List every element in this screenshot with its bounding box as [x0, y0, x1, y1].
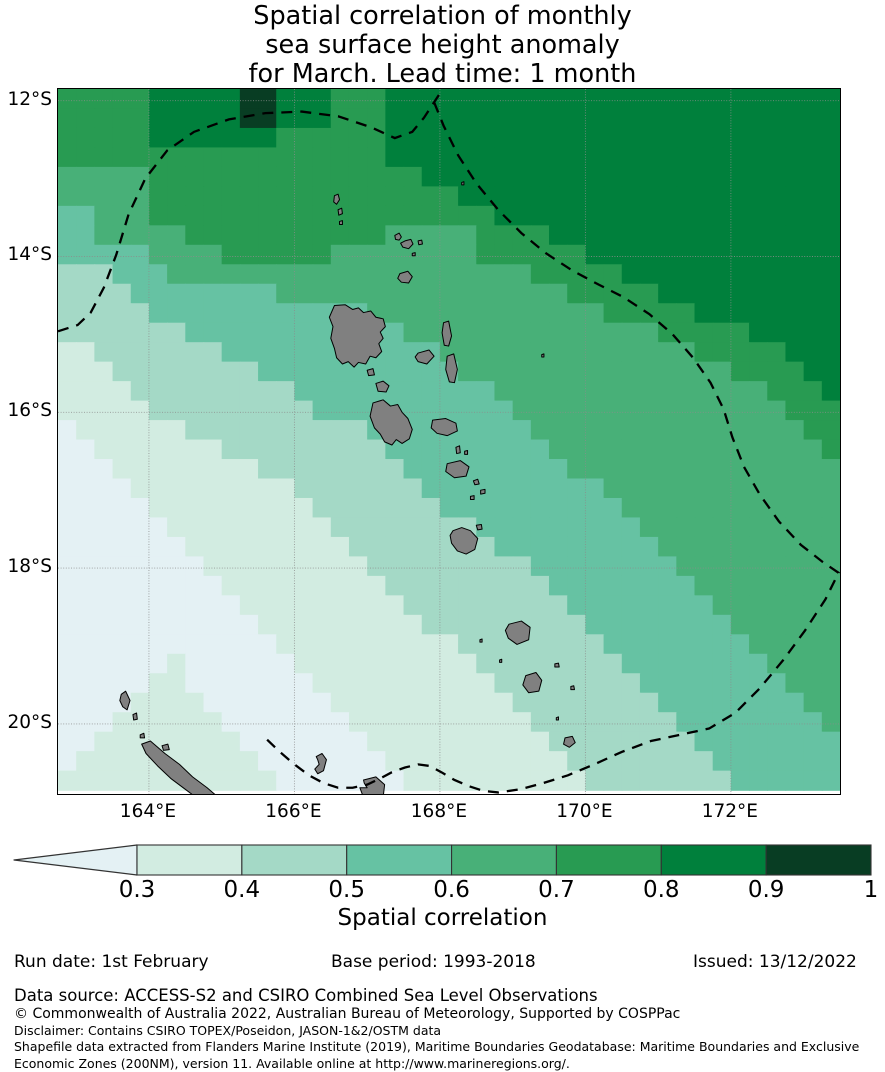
- base-period-label: Base period: 1993-2018: [331, 952, 536, 972]
- heatmap-cells: [58, 89, 840, 791]
- run-date-label: Run date: 1st February: [14, 952, 209, 972]
- x-axis-tick-166: 166°E: [233, 801, 353, 822]
- chart-title: Spatial correlation of monthly sea surfa…: [0, 0, 885, 89]
- colorbar-tick-0.9: 0.9: [706, 877, 826, 903]
- colorbar-tick-0.8: 0.8: [601, 877, 721, 903]
- disclaimer-text: Disclaimer: Contains CSIRO TOPEX/Poseido…: [14, 1023, 874, 1038]
- spatial-correlation-heatmap: [58, 89, 840, 794]
- chart-title-line-3: for March. Lead time: 1 month: [0, 60, 885, 89]
- y-axis-tick-20: 20°S: [7, 712, 52, 733]
- y-axis-tick-labels: 12°S14°S16°S18°S20°S: [0, 0, 52, 795]
- x-axis-tick-labels: 164°E166°E168°E170°E172°E: [0, 801, 885, 831]
- y-axis-tick-18: 18°S: [7, 556, 52, 577]
- colorbar-tick-1: 1: [811, 877, 885, 903]
- colorbar-title: Spatial correlation: [0, 905, 885, 931]
- y-axis-tick-14: 14°S: [7, 244, 52, 265]
- chart-title-line-2: sea surface height anomaly: [0, 31, 885, 60]
- x-axis-tick-170: 170°E: [524, 801, 644, 822]
- heatmap-canvas: [57, 88, 841, 795]
- colorbar-tick-labels: 0.30.40.50.60.70.80.91: [0, 877, 885, 905]
- shapefile-credit-line-1: Shapefile data extracted from Flanders M…: [14, 1038, 874, 1055]
- colorbar-tick-0.3: 0.3: [77, 877, 197, 903]
- map-plot-area: [57, 88, 841, 795]
- colorbar-tick-0.7: 0.7: [496, 877, 616, 903]
- chart-title-line-1: Spatial correlation of monthly: [0, 2, 885, 31]
- x-axis-tick-164: 164°E: [88, 801, 208, 822]
- colorbar-tick-0.6: 0.6: [392, 877, 512, 903]
- x-axis-tick-168: 168°E: [379, 801, 499, 822]
- x-axis-tick-172: 172°E: [670, 801, 790, 822]
- copyright-text: © Commonwealth of Australia 2022, Austra…: [14, 1006, 874, 1023]
- footer-text-block: Data source: ACCESS-S2 and CSIRO Combine…: [14, 985, 874, 1072]
- colorbar-tick-0.4: 0.4: [182, 877, 302, 903]
- colorbar: 0.30.40.50.60.70.80.91 Spatial correlati…: [0, 843, 885, 938]
- shapefile-credit-line-2: Economic Zones (200NM), version 11. Avai…: [14, 1055, 874, 1072]
- issued-date-label: Issued: 13/12/2022: [693, 952, 857, 972]
- colorbar-tick-0.5: 0.5: [287, 877, 407, 903]
- data-source-text: Data source: ACCESS-S2 and CSIRO Combine…: [14, 985, 874, 1006]
- y-axis-tick-12: 12°S: [7, 89, 52, 110]
- y-axis-tick-16: 16°S: [7, 400, 52, 421]
- colorbar-swatches: [0, 843, 885, 877]
- date-row: Run date: 1st February Base period: 1993…: [0, 952, 885, 980]
